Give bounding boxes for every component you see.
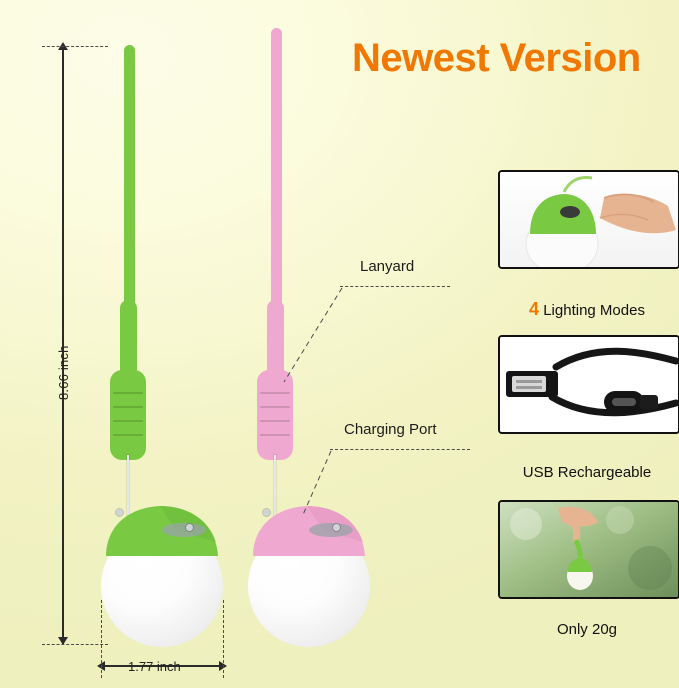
product-image-canvas: Newest Version 8.66 inch 1.77 inch xyxy=(0,0,679,688)
pink-lamp-hinge-knob-2 xyxy=(333,524,340,531)
pink-grip-line xyxy=(260,420,290,422)
charging-port-callout-underline xyxy=(330,449,470,450)
green-grip-line xyxy=(113,420,143,422)
green-lamp-hinge-knob-2 xyxy=(186,524,193,531)
feature-card-lighting-modes xyxy=(498,170,679,269)
width-guide-right xyxy=(223,600,224,678)
green-grip-line xyxy=(113,392,143,394)
feature-card-weight xyxy=(498,500,679,599)
height-dimension-label: 8.66 inch xyxy=(56,345,71,400)
pink-grip-line xyxy=(260,406,290,408)
lanyard-callout-label: Lanyard xyxy=(360,258,414,275)
feature-caption-weight: Only 20g xyxy=(498,621,676,638)
green-grip-line xyxy=(113,406,143,408)
usb-caption-text: USB Rechargeable xyxy=(523,464,651,481)
lighting-modes-art xyxy=(500,172,678,267)
feature-caption-lighting-modes: 4 Lighting Modes xyxy=(498,299,676,320)
weight-caption-text: Only 20g xyxy=(557,621,617,638)
lanyard-callout-leader xyxy=(282,286,344,386)
feature-card-usb xyxy=(498,335,679,434)
green-grip xyxy=(110,370,146,460)
feature-caption-usb: USB Rechargeable xyxy=(498,464,676,481)
pink-lamp-hinge-knob xyxy=(263,509,270,516)
charging-port-callout-leader xyxy=(300,449,334,521)
lighting-modes-text: Lighting Modes xyxy=(539,302,645,319)
headline-text: Newest Version xyxy=(352,36,641,81)
pink-grip-line xyxy=(260,392,290,394)
green-grip-line xyxy=(113,434,143,436)
weight-art xyxy=(500,502,678,597)
lighting-modes-count: 4 xyxy=(529,299,539,319)
pink-grip-line xyxy=(260,434,290,436)
green-lanyard-strap-taper xyxy=(120,300,137,380)
usb-cable-art xyxy=(500,337,678,432)
lanyard-callout-underline xyxy=(340,286,450,287)
green-lamp-hinge-knob xyxy=(116,509,123,516)
height-guide-top xyxy=(42,46,108,47)
charging-port-callout-label: Charging Port xyxy=(344,421,437,438)
height-guide-bottom xyxy=(42,644,108,645)
width-guide-left xyxy=(101,600,102,678)
width-dimension-label: 1.77 inch xyxy=(128,659,181,674)
